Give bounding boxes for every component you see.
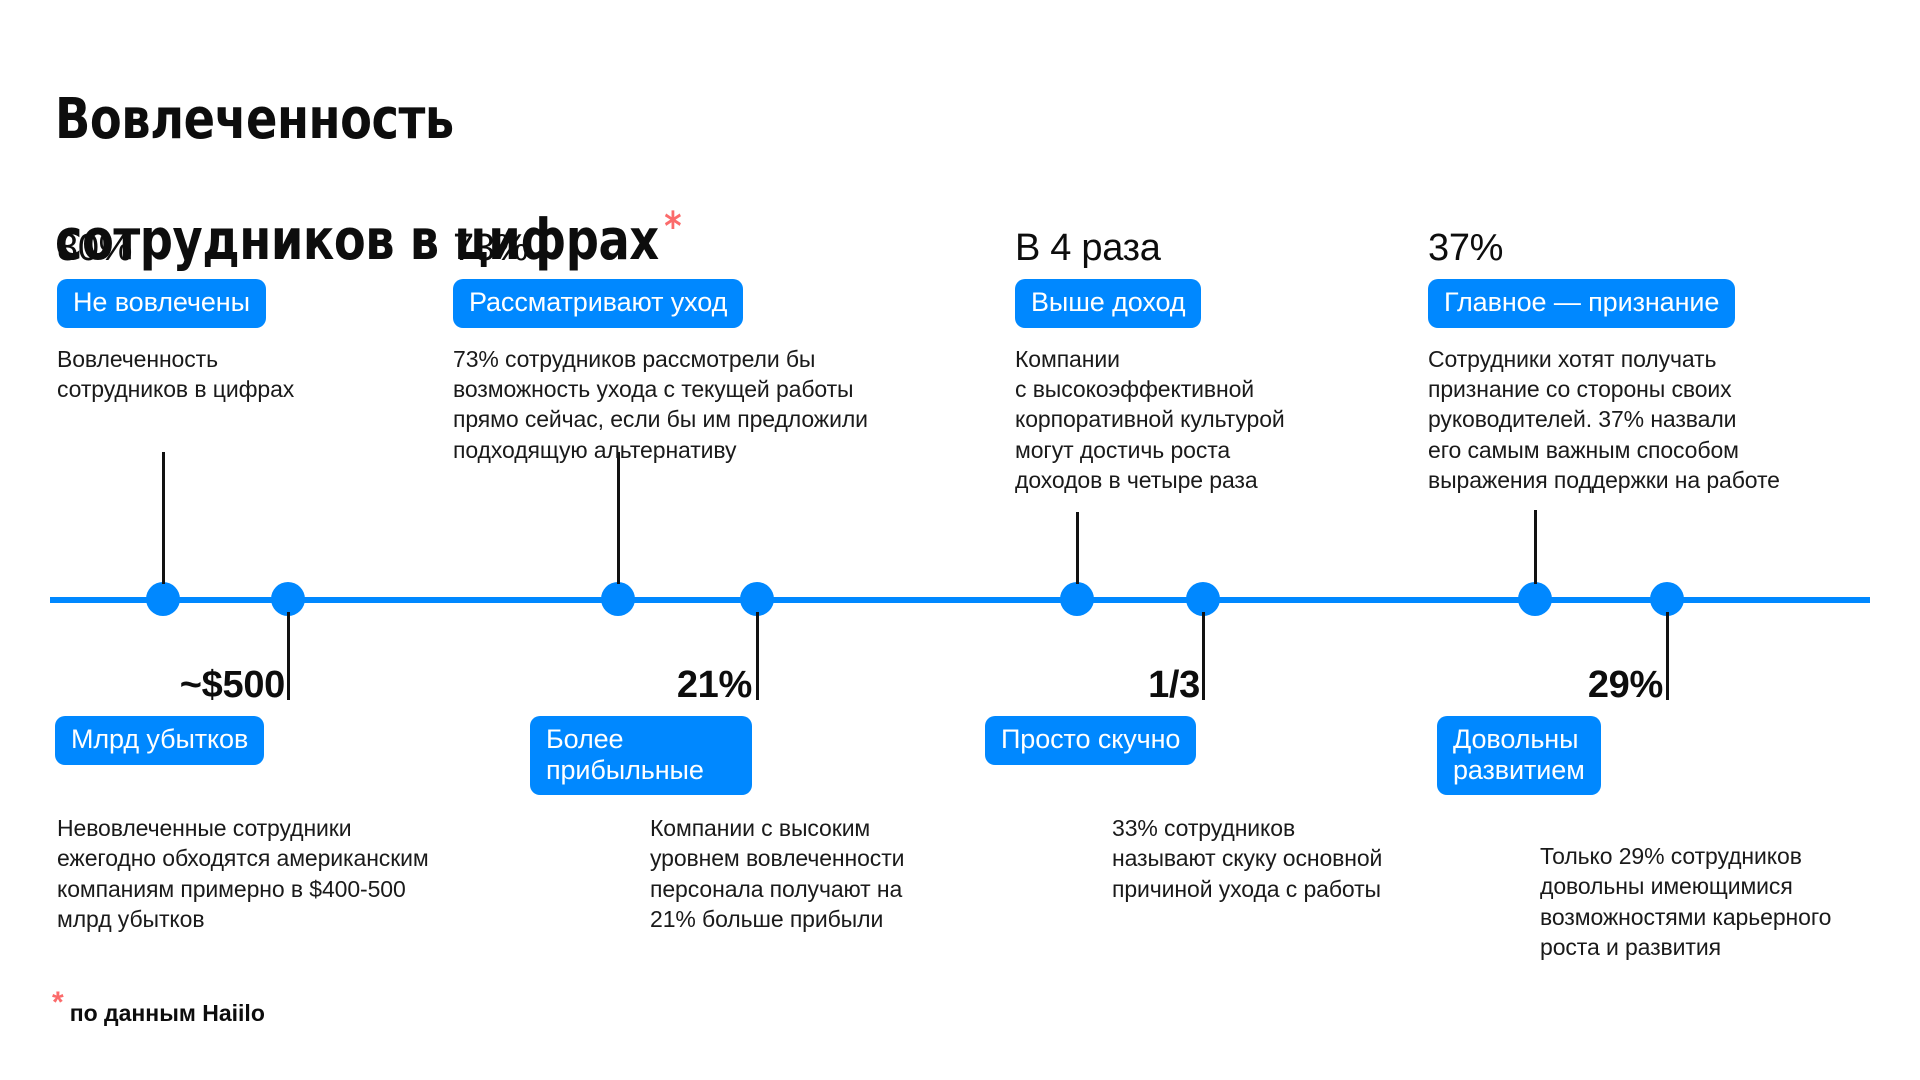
timeline-stem-8: [1666, 612, 1669, 700]
card-description: Компании с высокоэффективной корпоративн…: [1015, 344, 1345, 496]
footer-asterisk-icon: *: [52, 986, 64, 1019]
timeline-card-above-4[interactable]: 37% Главное — признание Сотрудники хотят…: [1428, 228, 1838, 495]
timeline-card-below-2-description: Компании с высоким уровнем вовлеченности…: [650, 813, 970, 934]
timeline-dot-1[interactable]: [146, 582, 180, 616]
timeline-card-below-1[interactable]: ~$500 Млрд убытков: [55, 665, 285, 765]
timeline-axis: [50, 597, 1870, 603]
card-description: 73% сотрудников рассмотрели бы возможнос…: [453, 344, 883, 465]
card-value: 37%: [1428, 228, 1838, 270]
timeline-card-above-2[interactable]: 73% Рассматривают уход 73% сотрудников р…: [453, 228, 883, 465]
card-value: В 4 раза: [1015, 228, 1345, 270]
card-value: 80%: [57, 228, 357, 270]
timeline-card-above-3[interactable]: В 4 раза Выше доход Компании с высокоэфф…: [1015, 228, 1345, 495]
card-value: ~$500: [180, 664, 285, 706]
timeline-card-below-4-description: Только 29% сотрудников довольны имеющими…: [1540, 841, 1920, 962]
card-badge[interactable]: Выше доход: [1015, 279, 1201, 328]
card-badge[interactable]: Более прибыльные: [530, 716, 752, 796]
timeline-dot-2[interactable]: [271, 582, 305, 616]
card-value: 73%: [453, 228, 883, 270]
timeline-stem-1: [162, 452, 165, 584]
card-badge[interactable]: Просто скучно: [985, 716, 1196, 765]
timeline-stem-5: [1076, 512, 1079, 584]
timeline-dot-7[interactable]: [1518, 582, 1552, 616]
infographic-canvas: Вовлеченность сотрудников в цифрах* 80% …: [0, 0, 1920, 1080]
timeline-dot-3[interactable]: [601, 582, 635, 616]
timeline-dot-6[interactable]: [1186, 582, 1220, 616]
card-badge[interactable]: Главное — признание: [1428, 279, 1735, 328]
timeline-card-below-1-description: Невовлеченные сотрудники ежегодно обходя…: [57, 813, 497, 934]
timeline-dot-8[interactable]: [1650, 582, 1684, 616]
timeline-stem-7: [1534, 510, 1537, 584]
footer-text: по данным Haiilo: [70, 1000, 265, 1026]
timeline-card-above-1[interactable]: 80% Не вовлечены Вовлеченность сотрудник…: [57, 228, 357, 404]
timeline-card-below-3[interactable]: 1/3 Просто скучно: [985, 665, 1200, 765]
card-description: Вовлеченность сотрудников в цифрах: [57, 344, 357, 405]
timeline-card-below-4[interactable]: 29% Довольны развитием: [1437, 665, 1663, 795]
card-badge[interactable]: Довольны развитием: [1437, 716, 1601, 796]
card-value: 21%: [677, 664, 752, 706]
card-description: Сотрудники хотят получать признание со с…: [1428, 344, 1838, 496]
timeline-stem-3: [617, 452, 620, 584]
timeline-dot-5[interactable]: [1060, 582, 1094, 616]
card-badge[interactable]: Рассматривают уход: [453, 279, 743, 328]
card-badge[interactable]: Не вовлечены: [57, 279, 266, 328]
source-footer: *по данным Haiilo: [52, 1000, 265, 1027]
page-title-line-1: Вовлеченность: [55, 87, 454, 152]
card-value: 1/3: [1148, 664, 1200, 706]
card-badge[interactable]: Млрд убытков: [55, 716, 264, 765]
timeline-stem-2: [287, 612, 290, 700]
timeline-card-below-2[interactable]: 21% Более прибыльные: [530, 665, 752, 795]
timeline-card-below-3-description: 33% сотрудников называют скуку основной …: [1112, 813, 1452, 904]
timeline-stem-4: [756, 612, 759, 700]
timeline-stem-6: [1202, 612, 1205, 700]
timeline-dot-4[interactable]: [740, 582, 774, 616]
card-value: 29%: [1588, 664, 1663, 706]
